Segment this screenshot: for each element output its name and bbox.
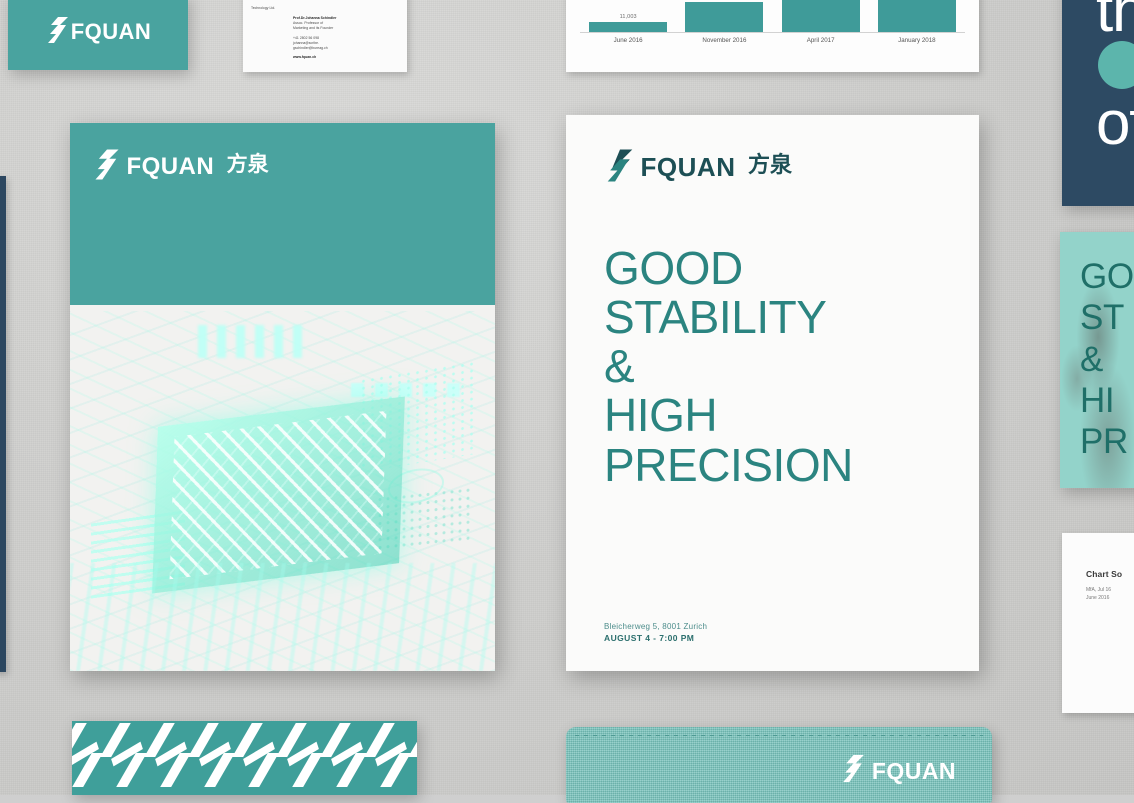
bar: [878, 0, 956, 32]
folder-logo: FQUAN: [840, 754, 956, 788]
doc-title: Chart So: [1086, 569, 1134, 579]
teal-business-card: FQUAN: [8, 0, 188, 70]
bar-column: 34,000: [682, 0, 767, 32]
bar: [685, 2, 763, 32]
pattern-logo-mark-icon: [150, 723, 194, 793]
bc-role-2: Marketing and its Founder: [293, 26, 399, 31]
bar-column: [875, 0, 960, 32]
bar-value-label: 11,003: [620, 14, 637, 20]
fquan-logo-mark-icon: [604, 148, 636, 188]
navy-text-line-1: th: [1096, 0, 1134, 39]
teal-text-line-3: &: [1080, 339, 1134, 380]
pattern-logo-mark-icon: [72, 723, 106, 793]
event-poster: FQUAN 方泉 GOOD STABILITY & HIGH PRECISION…: [566, 115, 979, 671]
bc-heading: Technology Ltd.: [251, 6, 399, 11]
brochure-wordmark: FQUAN: [126, 153, 214, 181]
pattern-logo-mark-icon: [194, 723, 238, 793]
headline-line-5: PRECISION: [604, 439, 853, 491]
pattern-logo-mark-icon: [282, 723, 326, 793]
doc-sub-line-2: June 2016: [1086, 595, 1134, 603]
bar-chart-xaxis: June 2016November 2016April 2017January …: [580, 33, 965, 44]
teal-text-line-4: HI: [1080, 380, 1134, 421]
headline-line-3: &: [604, 340, 634, 392]
navy-poster-panel: th of: [1062, 0, 1134, 206]
edge-panel-sliver: [0, 176, 6, 672]
circuit-board-photo: [70, 311, 495, 671]
poster-logo: FQUAN 方泉: [604, 147, 941, 188]
stitch-line: [575, 735, 983, 736]
bc-website: www.fquan.ch: [293, 55, 399, 60]
brochure-logo: FQUAN 方泉: [92, 148, 269, 186]
pattern-logo-mark-icon: [106, 723, 150, 793]
poster-wordmark: FQUAN: [640, 152, 735, 183]
fquan-logo-mark-icon: [840, 754, 867, 788]
bar: [589, 22, 667, 32]
bc-contact-3: gschindler@bureag.ch: [293, 46, 399, 51]
teal-text-line-5: PR: [1080, 421, 1134, 462]
navy-text-line-2: of: [1096, 95, 1134, 152]
poster-footer: Bleicherweg 5, 8001 Zurich AUGUST 4 - 7:…: [604, 622, 707, 643]
brochure-cover: FQUAN 方泉: [70, 123, 495, 671]
poster-wordmark-cjk: 方泉: [748, 153, 792, 178]
bar-category-label: June 2016: [586, 37, 671, 44]
pattern-logo-mark-icon: [238, 723, 282, 793]
brochure-header: FQUAN 方泉: [70, 123, 495, 305]
headline-line-2: STABILITY: [604, 291, 827, 343]
headline-line-1: GOOD: [604, 242, 743, 294]
doc-sub-line-1: MfA, Jul 16: [1086, 587, 1134, 595]
fquan-logo-mark-icon: [92, 148, 122, 186]
teal-panel-text: GO ST & HI PR: [1080, 256, 1134, 462]
bar-column: [778, 0, 863, 32]
poster-address: Bleicherweg 5, 8001 Zurich: [604, 622, 707, 631]
bar-chart-plot: 11,00334,000: [580, 0, 965, 33]
headline-line-4: HIGH: [604, 389, 717, 441]
teal-circle-shape: [1098, 41, 1134, 89]
teal-text-line-1: GO: [1080, 256, 1134, 297]
doc-subtext: MfA, Jul 16 June 2016: [1086, 587, 1134, 603]
logo-pattern-panel: [72, 721, 417, 795]
teal-poster-panel: GO ST & HI PR: [1060, 232, 1134, 488]
brochure-wordmark-cjk: 方泉: [227, 152, 269, 176]
bar-category-label: January 2018: [875, 37, 960, 44]
bar: [782, 0, 860, 32]
teal-fabric-folder: FQUAN: [566, 727, 992, 803]
pattern-logo-mark-icon: [326, 723, 370, 793]
card-wordmark: FQUAN: [71, 19, 151, 45]
chart-sheet: 11,00334,000 June 2016November 2016April…: [566, 0, 979, 72]
fquan-logo-mark-icon: [45, 16, 71, 49]
bar-category-label: November 2016: [682, 37, 767, 44]
bar-category-label: April 2017: [778, 37, 863, 44]
pattern-logo-mark-icon: [370, 723, 414, 793]
pattern-logo-mark-icon: [414, 723, 417, 793]
poster-headline: GOOD STABILITY & HIGH PRECISION: [604, 244, 941, 490]
bar-column: 11,003: [586, 0, 671, 32]
poster-date: AUGUST 4 - 7:00 PM: [604, 633, 707, 643]
folder-wordmark: FQUAN: [872, 758, 956, 785]
chart-source-document: Chart So MfA, Jul 16 June 2016: [1062, 533, 1134, 713]
white-business-card: Technology Ltd. Prof.Dr.Johanna Schindle…: [243, 0, 407, 72]
teal-text-line-2: ST: [1080, 297, 1134, 338]
